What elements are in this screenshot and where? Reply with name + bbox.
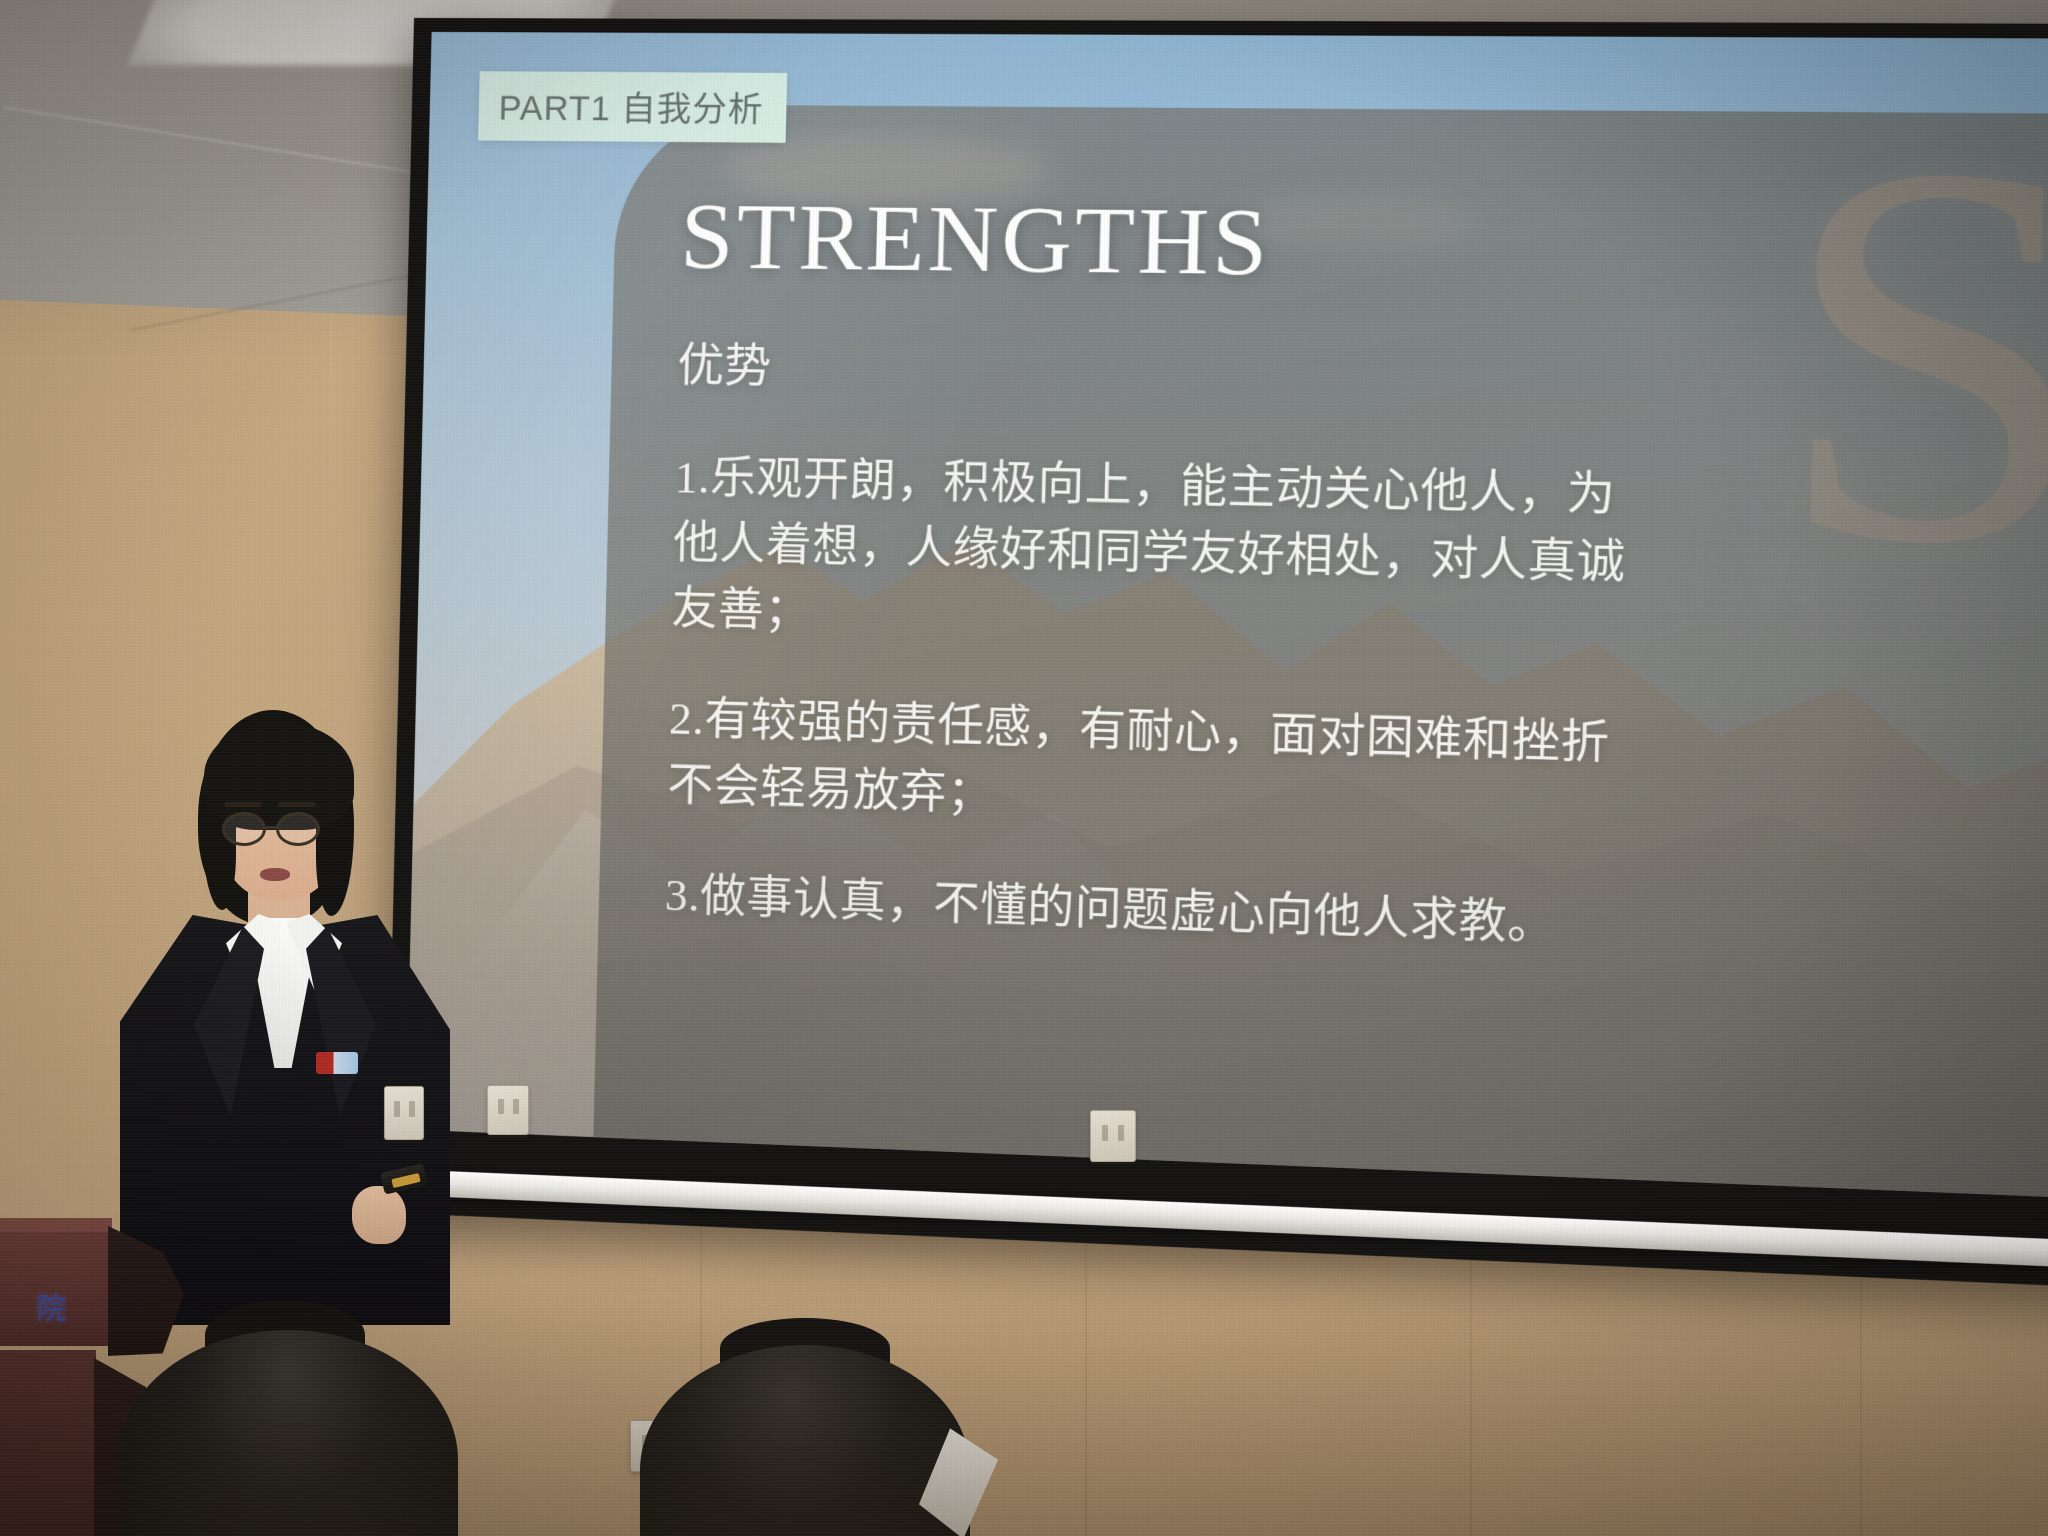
podium-inscription: 学 院: [0, 1284, 106, 1328]
outlet-slot: [394, 1101, 400, 1117]
presenter-eyebrow: [224, 802, 262, 807]
eyeglasses-icon: [222, 812, 266, 846]
lapel-badge-pin: [316, 1052, 358, 1074]
outlet-slot: [513, 1099, 519, 1114]
presenter-mouth: [260, 868, 290, 881]
podium-column: [0, 1350, 96, 1536]
slide-subtitle: 优势: [677, 327, 1632, 409]
outlet-slot: [498, 1099, 504, 1114]
wall-outlet-right: [1090, 1110, 1136, 1162]
outlet-slot: [1102, 1125, 1108, 1141]
presenter-eyebrow: [278, 802, 316, 807]
podium-top: 学 院: [0, 1218, 112, 1346]
screen-surface: S PART1 自我分析 STRENGTHS 优势 1.乐观开朗，积极向上，能主…: [406, 32, 2048, 1200]
presenter-hand: [352, 1186, 406, 1244]
slide-title: STRENGTHS: [679, 188, 1635, 295]
presenter-hair-front: [204, 722, 354, 830]
slide-bullet-3: 3.做事认真，不懂的问题虚心向他人求教。: [664, 862, 1618, 960]
slide-bullet-1: 1.乐观开朗，积极向上，能主动关心他人，为他人着想，人缘好和同学友好相处，对人真…: [671, 444, 1629, 665]
outlet-slot: [409, 1101, 415, 1117]
eyeglasses-bridge: [266, 826, 278, 829]
photo-scene: S PART1 自我分析 STRENGTHS 优势 1.乐观开朗，积极向上，能主…: [0, 0, 2048, 1536]
slide-body: 1.乐观开朗，积极向上，能主动关心他人，为他人着想，人缘好和同学友好相处，对人真…: [664, 444, 1629, 960]
slide-bullet-2: 2.有较强的责任感，有耐心，面对困难和挫折不会轻易放弃；: [667, 686, 1623, 846]
projection-screen: S PART1 自我分析 STRENGTHS 优势 1.乐观开朗，积极向上，能主…: [386, 18, 2048, 1289]
outlet-slot: [1118, 1125, 1124, 1141]
podium-edge: [0, 1218, 112, 1232]
slide-text-block: STRENGTHS 优势 1.乐观开朗，积极向上，能主动关心他人，为他人着想，人…: [663, 188, 1635, 1006]
wall-outlet-left: [384, 1086, 424, 1140]
presenter-speaker: [120, 700, 450, 1320]
eyeglasses-icon: [276, 812, 320, 846]
wall-outlet-center: [487, 1085, 529, 1135]
slide-part-tag: PART1 自我分析: [478, 72, 787, 144]
